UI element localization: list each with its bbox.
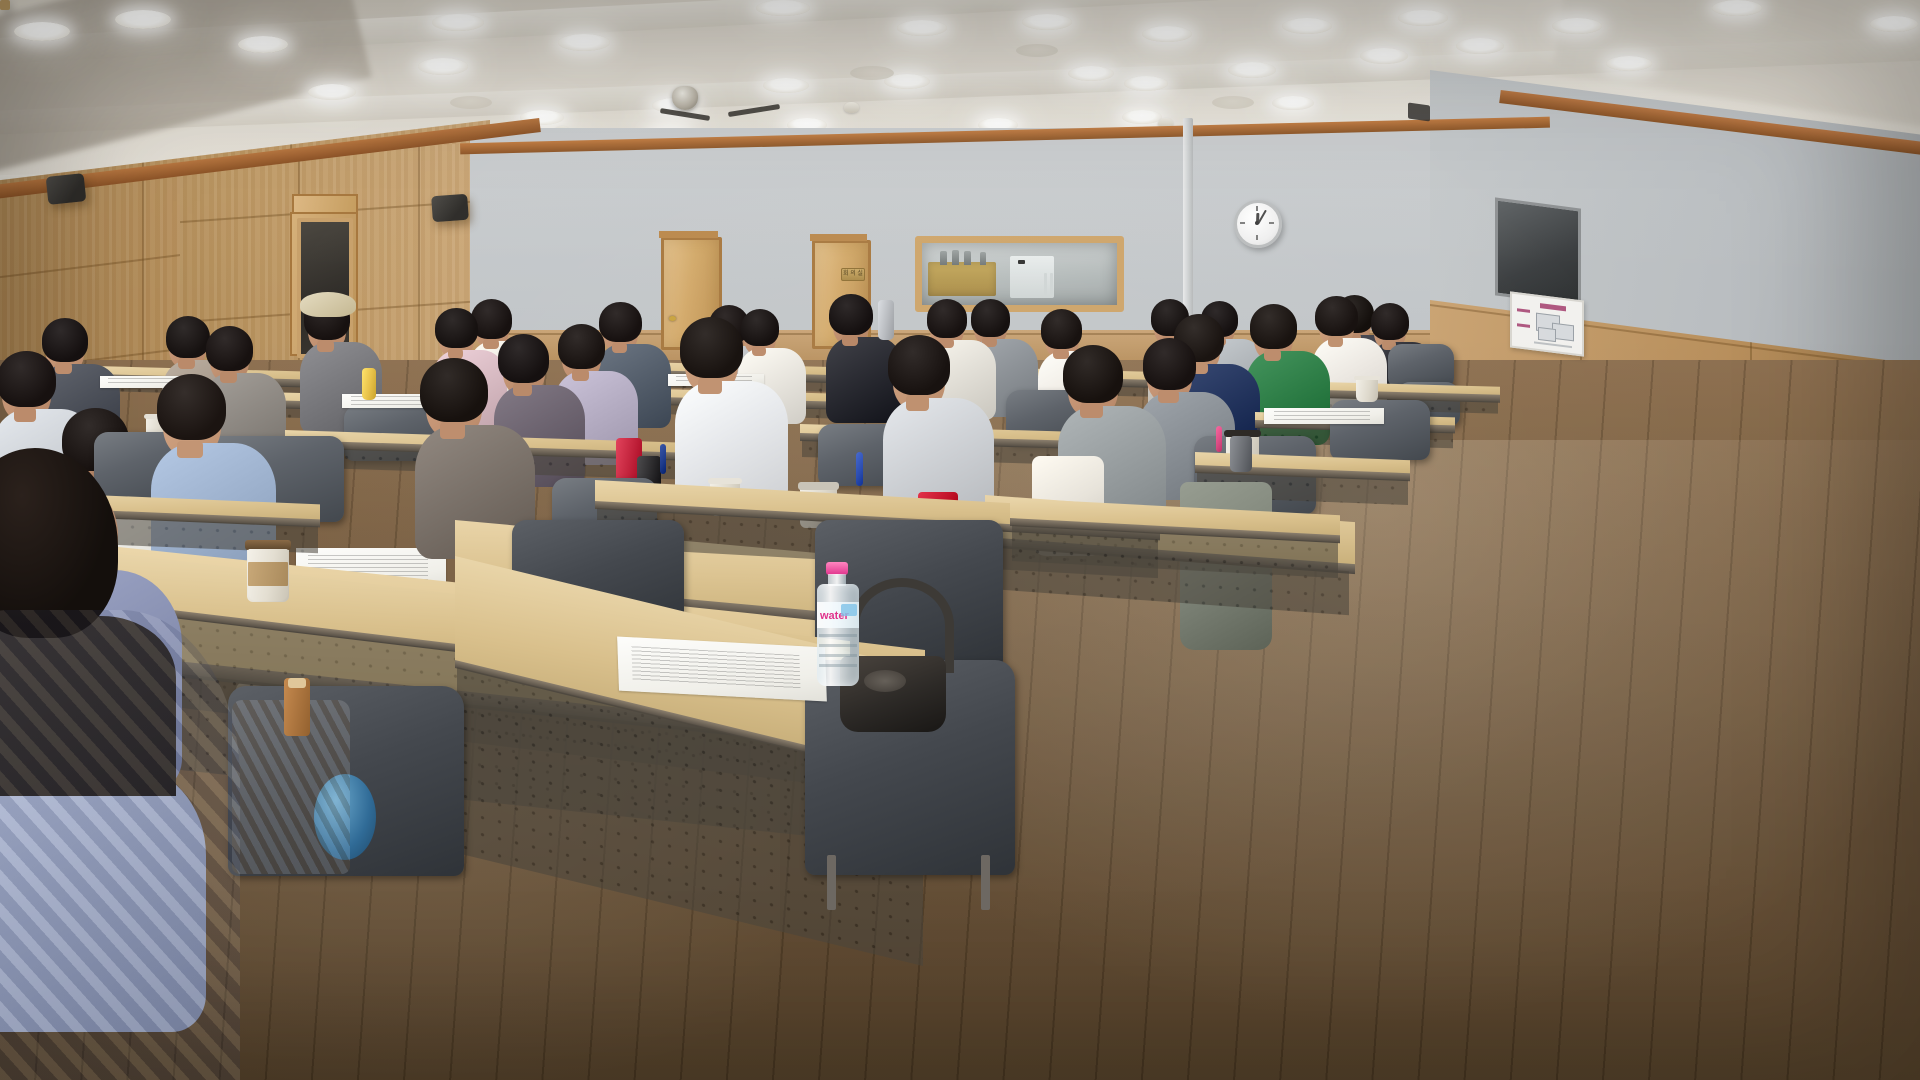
attendee-hair <box>1063 345 1123 403</box>
attendee-hair <box>888 335 950 395</box>
downlight-off-icon <box>850 66 894 80</box>
downlight-icon <box>1228 62 1276 78</box>
downlight-icon <box>1712 0 1762 16</box>
yellow-tumbler[interactable] <box>362 368 376 400</box>
downlight-icon <box>238 36 288 53</box>
hatch-cabinet <box>928 262 996 296</box>
downlight-icon <box>897 20 947 36</box>
paper-coffee-cup-far-right[interactable] <box>1356 376 1378 402</box>
pen-in-hand-centre[interactable] <box>660 444 666 474</box>
downlight-icon <box>558 34 610 51</box>
attendee-neck <box>317 340 334 352</box>
evacuation-plan-poster <box>1510 291 1584 356</box>
downlight-off-icon <box>1212 96 1254 109</box>
downlight-off-icon <box>1016 44 1058 57</box>
water-bottle[interactable]: water <box>815 562 861 686</box>
downlight-icon <box>1122 110 1162 124</box>
seminar-room-photo: 회 의 실 <box>0 0 1920 1080</box>
wall-display-panel <box>1495 197 1581 306</box>
wall-speaker-icon <box>431 194 469 222</box>
desk-row-2-right <box>1010 498 1340 564</box>
steel-flask-back[interactable] <box>878 300 894 340</box>
attendee-hair <box>680 317 743 378</box>
attendee-hat <box>300 292 356 317</box>
downlight-icon <box>1068 66 1114 81</box>
wall-clock <box>1234 200 1282 248</box>
downlight-icon <box>14 22 70 41</box>
attendee-hair <box>420 358 487 422</box>
attendee-foreground-bottom-left <box>0 440 320 1080</box>
downlight-icon <box>1398 10 1448 26</box>
door-nameplate: 회 의 실 <box>841 268 865 281</box>
sprinkler-head-icon <box>844 102 859 113</box>
attendee-neck <box>906 395 929 411</box>
hatch-appliance <box>1010 256 1054 298</box>
attendee-neck <box>14 407 36 422</box>
attendee-hair <box>435 308 477 348</box>
downlight-icon <box>1870 16 1918 32</box>
attendee-neck <box>842 335 858 346</box>
attendee-hair <box>157 374 227 441</box>
wall-speaker-icon <box>46 173 87 205</box>
attendee-neck <box>1080 403 1103 418</box>
downlight-icon <box>1360 48 1408 64</box>
downlight-icon <box>115 10 171 29</box>
door-nameplate-text: 회 의 실 <box>842 269 864 280</box>
downlight-icon <box>308 84 356 100</box>
handout-front-desk <box>617 636 827 701</box>
attendee-hair <box>206 326 253 371</box>
bottle-label: water <box>817 602 859 628</box>
downlight-icon <box>1282 18 1332 34</box>
downlight-icon <box>763 78 809 93</box>
downlight-icon <box>1022 14 1072 30</box>
door-right-header <box>810 234 867 241</box>
attendee-hair <box>829 294 872 335</box>
attendee-hair <box>0 351 56 407</box>
downlight-icon <box>1124 76 1168 91</box>
door-centre-header <box>659 231 718 238</box>
downlight-icon <box>756 0 810 16</box>
attendee-neck <box>698 378 722 394</box>
attendee-body <box>0 610 240 1080</box>
whiteboard <box>0 0 10 10</box>
pink-pen[interactable] <box>1216 426 1222 452</box>
downlight-icon <box>1552 18 1602 34</box>
downlight-icon <box>1456 38 1504 54</box>
attendee-neck <box>440 422 465 439</box>
downlight-icon <box>1272 96 1314 110</box>
downlight-icon <box>432 14 484 31</box>
cup-lid <box>1354 376 1380 380</box>
handout-row3-right <box>1264 408 1384 424</box>
downlight-off-icon <box>450 96 492 109</box>
exit-sign-housing <box>1408 102 1430 121</box>
downlight-icon <box>1142 26 1192 42</box>
ceiling-dome-camera-icon <box>672 86 698 110</box>
grey-tumbler-right[interactable] <box>1230 436 1252 472</box>
attendee-neck <box>1264 349 1282 361</box>
downlight-icon <box>1606 56 1652 71</box>
downlight-icon <box>418 58 468 75</box>
